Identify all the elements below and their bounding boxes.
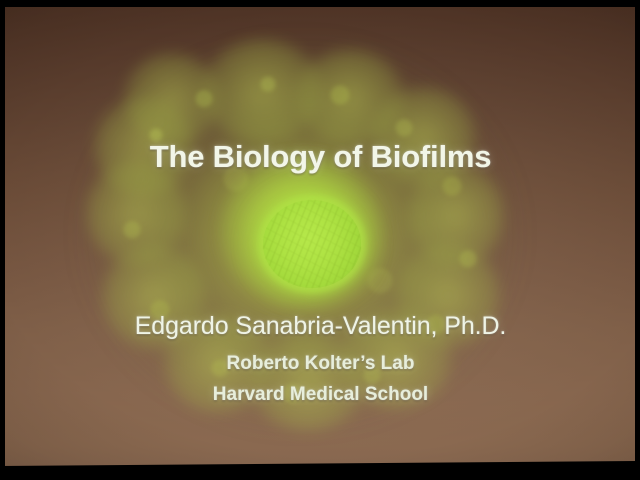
affiliation-school: Harvard Medical School [5, 384, 636, 406]
colony-core-striations [263, 200, 361, 288]
letterbox-right [635, 0, 640, 480]
video-frame: The Biology of Biofilms Edgardo Sanabria… [0, 0, 640, 480]
affiliation-lab: Roberto Kolter’s Lab [5, 353, 636, 375]
presenter-name: Edgardo Sanabria-Valentin, Ph.D. [5, 312, 636, 341]
colony-core [263, 200, 361, 288]
letterbox-left [0, 0, 5, 480]
presentation-slide: The Biology of Biofilms Edgardo Sanabria… [5, 7, 636, 469]
letterbox-top [0, 0, 640, 7]
slide-title: The Biology of Biofilms [5, 139, 636, 175]
